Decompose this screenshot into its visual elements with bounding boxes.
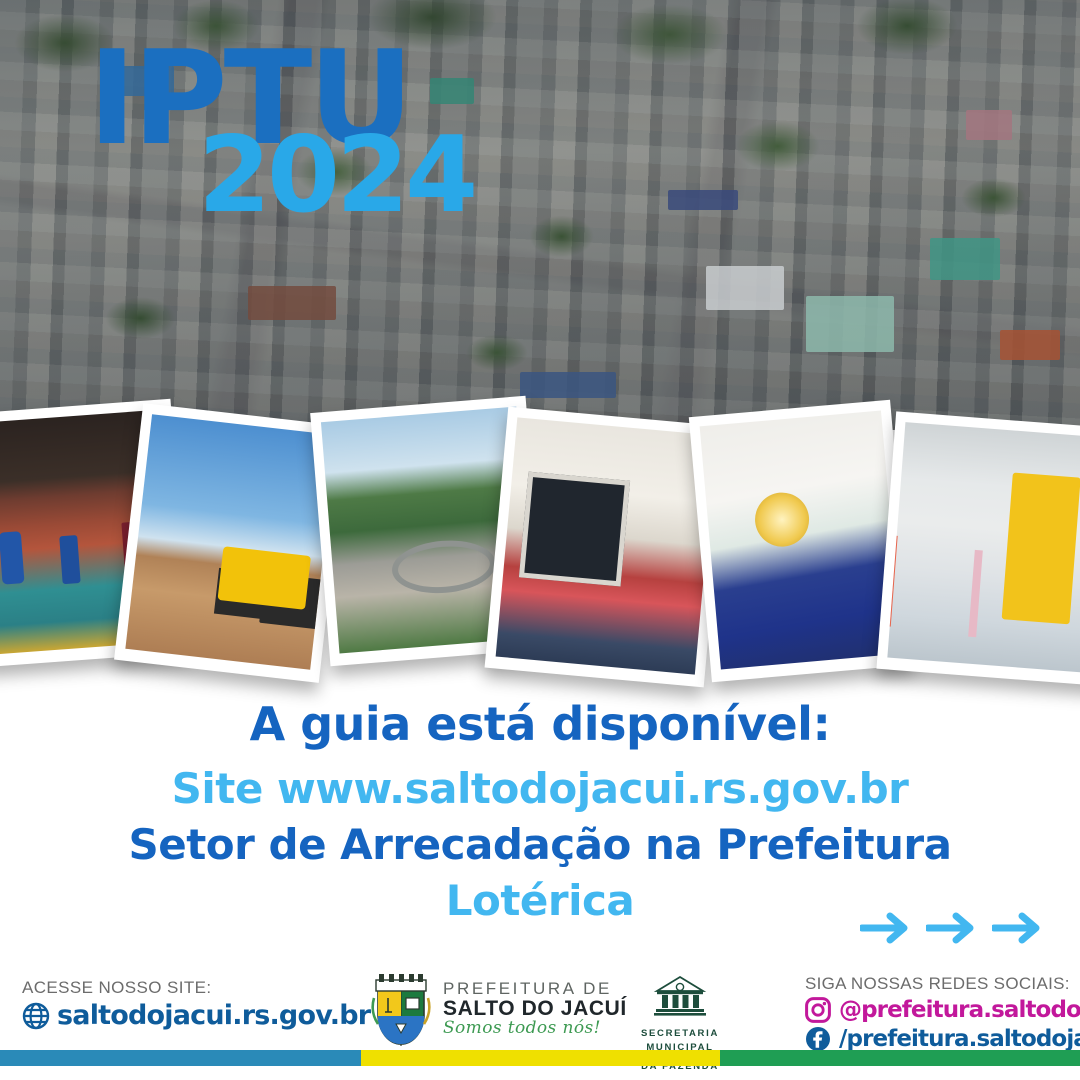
title-year: 2024 — [198, 135, 474, 217]
bar-segment-yellow — [361, 1050, 721, 1066]
instagram-icon — [805, 997, 831, 1023]
collage-photo-school — [876, 411, 1080, 686]
facebook-handle: /prefeitura.saltodojacui — [839, 1026, 1080, 1052]
instagram-link[interactable]: @prefeitura.saltodojacui — [805, 997, 1080, 1023]
arrow-right-icon — [926, 908, 978, 948]
arrow-right-icon — [992, 908, 1044, 948]
footer: ACESSE NOSSO SITE: saltodojacui.rs.gov.b… — [0, 960, 1080, 1056]
school-children-image — [887, 422, 1080, 674]
site-url-text: saltodojacui.rs.gov.br — [57, 1000, 370, 1031]
instagram-handle: @prefeitura.saltodojacui — [839, 997, 1080, 1023]
road-grader-image — [125, 414, 337, 670]
facebook-link[interactable]: /prefeitura.saltodojacui — [805, 1026, 1080, 1052]
arrow-group — [860, 908, 1044, 948]
message-block: A guia está disponível: Site www.saltodo… — [0, 700, 1080, 927]
classical-building-icon — [653, 974, 707, 1018]
hero-aerial-photo: IPTU 2024 — [0, 0, 1080, 430]
prefeitura-line-2: SALTO DO JACUÍ — [443, 998, 627, 1019]
site-link[interactable]: saltodojacui.rs.gov.br — [22, 1000, 370, 1031]
dental-clinic-image — [700, 411, 903, 670]
elderly-choir-image — [496, 417, 717, 674]
site-caption: ACESSE NOSSO SITE: — [22, 978, 370, 998]
prefeitura-line-1: PREFEITURA DE — [443, 980, 627, 997]
prefeitura-slogan: Somos todos nós! — [443, 1020, 627, 1037]
message-line-3: Setor de Arrecadação na Prefeitura — [0, 820, 1080, 870]
photo-collage — [0, 392, 1080, 692]
globe-icon — [22, 1002, 50, 1030]
bar-segment-blue — [0, 1050, 361, 1066]
prefeitura-logo: PREFEITURA DE SALTO DO JACUÍ Somos todos… — [368, 972, 627, 1046]
bottom-color-bar — [0, 1050, 1080, 1066]
coat-of-arms-icon — [368, 972, 434, 1046]
message-line-1: A guia está disponível: — [0, 700, 1080, 750]
facebook-icon — [805, 1026, 831, 1052]
message-line-2: Site www.saltodojacui.rs.gov.br — [0, 764, 1080, 814]
hero-title: IPTU 2024 — [88, 48, 474, 217]
social-block: SIGA NOSSAS REDES SOCIAIS: @prefeitura.s… — [805, 974, 1080, 1052]
arrow-right-icon — [860, 908, 912, 948]
bar-segment-green — [720, 1050, 1080, 1066]
social-caption: SIGA NOSSAS REDES SOCIAIS: — [805, 974, 1080, 994]
footer-site-block: ACESSE NOSSO SITE: saltodojacui.rs.gov.b… — [22, 978, 370, 1031]
iptu-2024-poster: IPTU 2024 A guia está disponível: Site w… — [0, 0, 1080, 1080]
